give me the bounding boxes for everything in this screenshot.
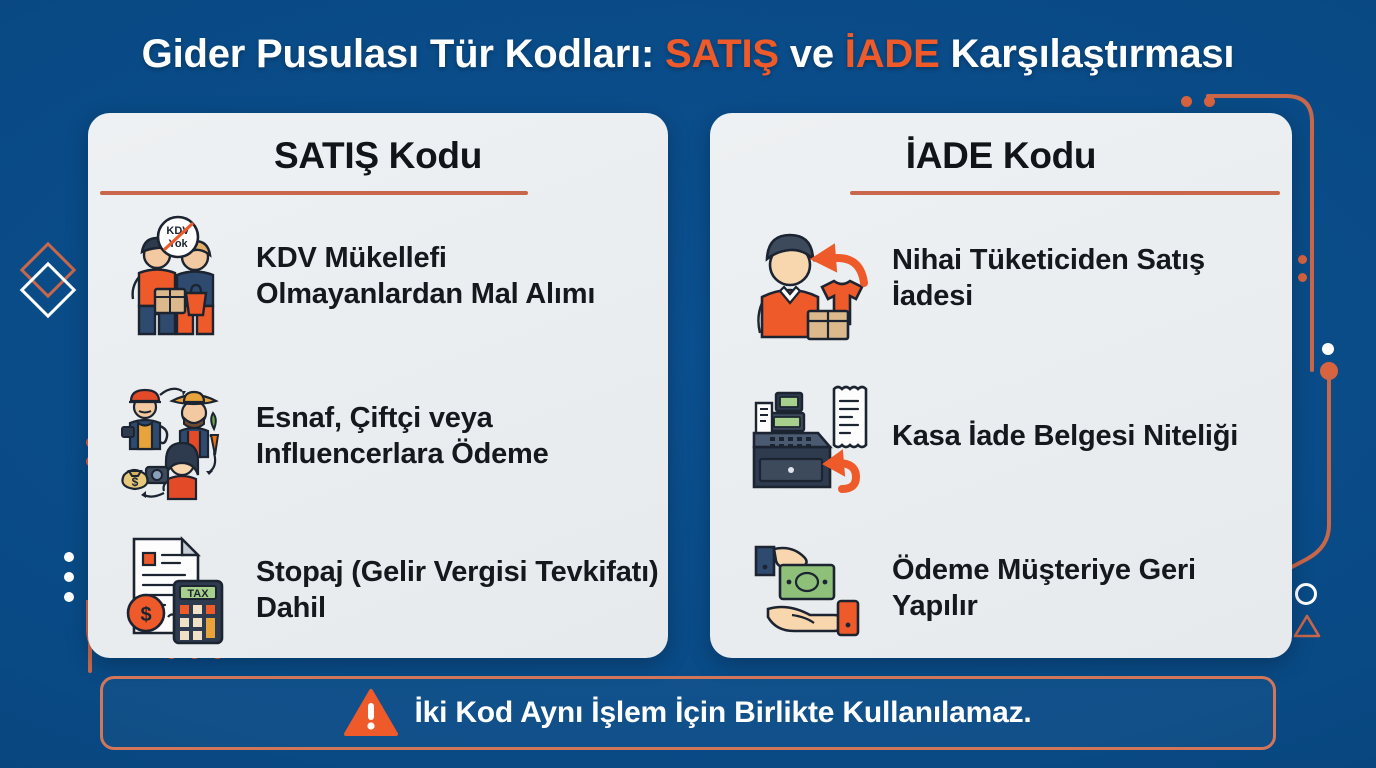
list-item-label: Ödeme Müşteriye Geri Yapılır [892, 552, 1286, 625]
infographic-canvas: Gider Pusulası Tür Kodları: SATIŞ ve İAD… [0, 0, 1376, 768]
right-orange-dot-1 [1298, 255, 1307, 264]
top-right-dot-1 [1181, 96, 1192, 107]
right-white-dot [1322, 343, 1334, 355]
warning-text: İki Kod Aynı İşlem İçin Birlikte Kullanı… [414, 696, 1031, 730]
card-satis-heading: SATIŞ Kodu [88, 135, 668, 177]
card-satis: SATIŞ Kodu [88, 113, 668, 658]
title-accent-satis: SATIŞ [665, 32, 779, 76]
page-title: Gider Pusulası Tür Kodları: SATIŞ ve İAD… [0, 32, 1376, 77]
cash-handover-refund-icon [746, 523, 876, 653]
list-item-label: Esnaf, Çiftçi veya Influencerlara Ödeme [256, 400, 660, 473]
right-triangle-outline-decoration [1292, 612, 1322, 640]
right-large-orange-dot [1320, 362, 1338, 380]
two-people-box-handover-no-vat-icon: KDV Yok [110, 211, 240, 341]
left-white-dot-3 [64, 592, 74, 602]
list-item: $ TAX Stopaj (Gelir Vergisi Tevkifat [110, 525, 660, 655]
title-part-1: Gider Pusulası Tür Kodları: [142, 32, 665, 76]
svg-text:$: $ [140, 604, 151, 626]
list-item: Ödeme Müşteriye Geri Yapılır [746, 523, 1286, 653]
card-satis-divider [100, 191, 528, 195]
right-circle-outline-decoration [1295, 583, 1317, 605]
list-item-label: Stopaj (Gelir Vergisi Tevkifatı) Dahil [256, 554, 660, 627]
customer-return-shirt-box-icon [746, 213, 876, 343]
list-item: Kasa İade Belgesi Niteliği [746, 371, 1286, 501]
card-iade-heading: İADE Kodu [710, 135, 1292, 177]
list-item: $ Esnaf, Çiftçi veya Influencerlara Ödem… [110, 371, 660, 501]
list-item: Nihai Tüketiciden Satış İadesi [746, 213, 1286, 343]
tradesman-farmer-influencer-money-icon: $ [110, 371, 240, 501]
top-right-dot-2 [1204, 96, 1215, 107]
right-orange-dot-2 [1298, 273, 1307, 282]
diamond-white-decoration [20, 262, 77, 319]
card-iade-divider [850, 191, 1280, 195]
title-part-2: ve [779, 32, 845, 76]
list-item: KDV Yok KDV Mükellefi Olmayanlardan Mal … [110, 211, 660, 341]
warning-triangle-icon [344, 688, 398, 738]
list-item-label: Kasa İade Belgesi Niteliği [892, 418, 1238, 454]
document-calculator-tax-icon: $ TAX [110, 525, 240, 655]
svg-text:$: $ [132, 475, 139, 489]
title-accent-iade: İADE [845, 32, 940, 76]
cash-register-receipt-return-icon [746, 371, 876, 501]
svg-text:TAX: TAX [187, 588, 209, 600]
list-item-label: KDV Mükellefi Olmayanlardan Mal Alımı [256, 240, 660, 313]
left-white-dot-2 [64, 572, 74, 582]
warning-banner: İki Kod Aynı İşlem İçin Birlikte Kullanı… [100, 676, 1276, 750]
card-iade: İADE Kodu [710, 113, 1292, 658]
list-item-label: Nihai Tüketiciden Satış İadesi [892, 242, 1286, 315]
left-white-dot-1 [64, 552, 74, 562]
diamond-orange-decoration [20, 242, 77, 299]
title-part-3: Karşılaştırması [940, 32, 1235, 76]
